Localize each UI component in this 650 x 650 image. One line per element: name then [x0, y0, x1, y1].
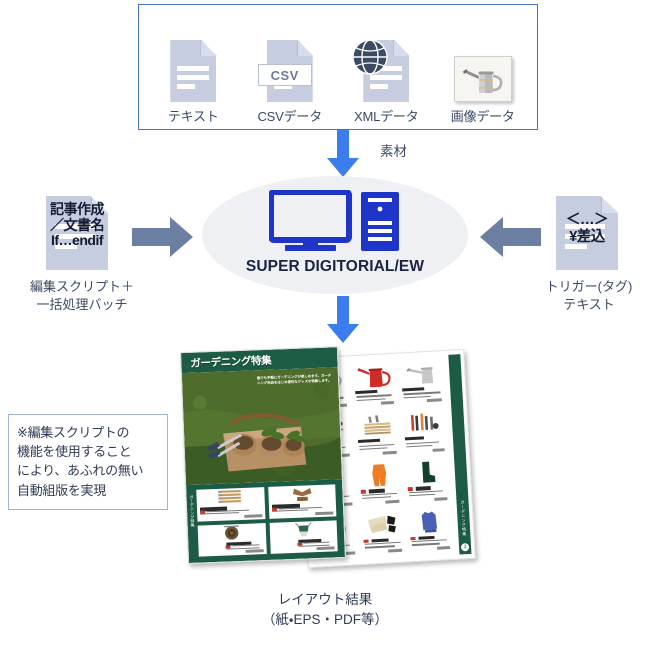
magazine-left-sidebar-text: ガーデニング特集 — [188, 495, 195, 527]
left-input-caption: 編集スクリプト＋ 一括処理バッチ — [2, 278, 162, 313]
product-cell — [198, 523, 267, 557]
xml-globe-document-icon — [363, 40, 409, 102]
flow-arrow-hub-to-output — [326, 296, 360, 349]
desktop-computer-icon — [269, 190, 401, 257]
image-thumbnail-icon — [454, 56, 512, 102]
overlay-line-1: 記事作成 — [37, 202, 117, 218]
source-item-csv: CSV CSVデータ — [244, 40, 336, 125]
flow-arrow-left-to-hub — [132, 216, 194, 258]
arrow-right-icon — [132, 216, 194, 258]
right-caption-line-2: テキスト — [528, 296, 650, 314]
product-cell — [269, 520, 338, 554]
script-document-icon: 記事作成 ／文書名 If…endif — [46, 196, 108, 270]
note-box: ※編集スクリプトの 機能を使用すること により、あふれの無い 自動組版を実現 — [8, 414, 168, 510]
source-item-image: 画像データ — [437, 56, 529, 125]
note-line-2: 機能を使用すること — [17, 442, 160, 461]
overlay-line-2: ／文書名 — [37, 218, 117, 234]
arrow-left-icon — [480, 216, 542, 258]
source-item-xml: XMLデータ — [340, 40, 432, 125]
csv-document-icon: CSV — [267, 40, 313, 102]
source-label-image: 画像データ — [451, 106, 515, 125]
left-input-icon-group: 記事作成 ／文書名 If…endif — [46, 196, 108, 270]
text-document-icon — [170, 40, 216, 102]
right-caption-line-1: トリガー(タグ) — [528, 278, 650, 296]
right-input-overlay-text: ＜…＞ ¥差込 — [552, 212, 622, 245]
right-input-caption: トリガー(タグ) テキスト — [528, 278, 650, 313]
magazine-title: ガーデニング特集 — [190, 353, 271, 371]
hub-title: SUPER DIGITORIAL/EW — [202, 258, 468, 276]
globe-icon — [351, 38, 389, 81]
right-input-icon-group: ＜…＞ ¥差込 — [556, 196, 618, 270]
output-caption: レイアウト結果 （紙・EPS・PDF等） — [0, 590, 650, 629]
magazine-page-number: 3 — [461, 543, 469, 551]
left-caption-line-2: 一括処理バッチ — [2, 296, 162, 314]
magazine-sidebar-text: ガーデニング特集 — [459, 500, 467, 536]
note-line-1: ※編集スクリプトの — [17, 423, 160, 442]
output-caption-line-2: （紙・EPS・PDF等） — [0, 610, 650, 630]
product-grid-left — [186, 479, 345, 563]
product-cell — [359, 509, 406, 558]
overlay-line-1: ＜…＞ — [552, 212, 622, 229]
arrow-down-icon — [326, 296, 360, 344]
left-input-overlay-text: 記事作成 ／文書名 If…endif — [37, 202, 117, 249]
magazine-left-page: ガーデニング特集 — [180, 346, 346, 564]
product-cell — [403, 458, 450, 507]
product-cell — [350, 362, 397, 411]
overlay-line-3: If…endif — [37, 233, 117, 249]
source-label-csv: CSVデータ — [257, 106, 322, 125]
arrow-down-icon — [326, 130, 360, 178]
source-materials-box: テキスト CSV CSVデータ — [138, 4, 538, 130]
left-caption-line-1: 編集スクリプト＋ — [2, 278, 162, 296]
csv-badge: CSV — [258, 64, 312, 86]
output-caption-line-1: レイアウト結果 — [0, 590, 650, 610]
product-cell — [398, 359, 445, 408]
source-label-text: テキスト — [168, 106, 219, 125]
note-line-3: により、あふれの無い — [17, 461, 160, 480]
diagram-canvas: テキスト CSV CSVデータ — [0, 0, 650, 650]
product-cell — [268, 484, 337, 518]
overlay-line-2: ¥差込 — [552, 229, 622, 246]
product-cell — [356, 460, 403, 509]
note-line-4: 自動組版を実現 — [17, 481, 160, 500]
product-cell — [196, 487, 265, 521]
product-cell — [353, 411, 400, 460]
product-cell — [406, 507, 453, 556]
tag-document-icon: ＜…＞ ¥差込 — [556, 196, 618, 270]
materials-label: 素材 — [380, 140, 407, 160]
source-item-text: テキスト — [147, 40, 239, 125]
magazine-hero-photo: 誰でも手軽にガーデニングが楽しめます。ガーデニング用具をはじめ便利なグッズを特集… — [182, 367, 342, 485]
product-cell — [401, 408, 448, 457]
flow-arrow-right-to-hub — [480, 216, 542, 258]
hub-node: SUPER DIGITORIAL/EW — [202, 176, 468, 294]
source-label-xml: XMLデータ — [354, 106, 419, 125]
layout-result-magazine-spread: ガーデニング特集 3 ガーデニング特集 — [182, 344, 482, 584]
